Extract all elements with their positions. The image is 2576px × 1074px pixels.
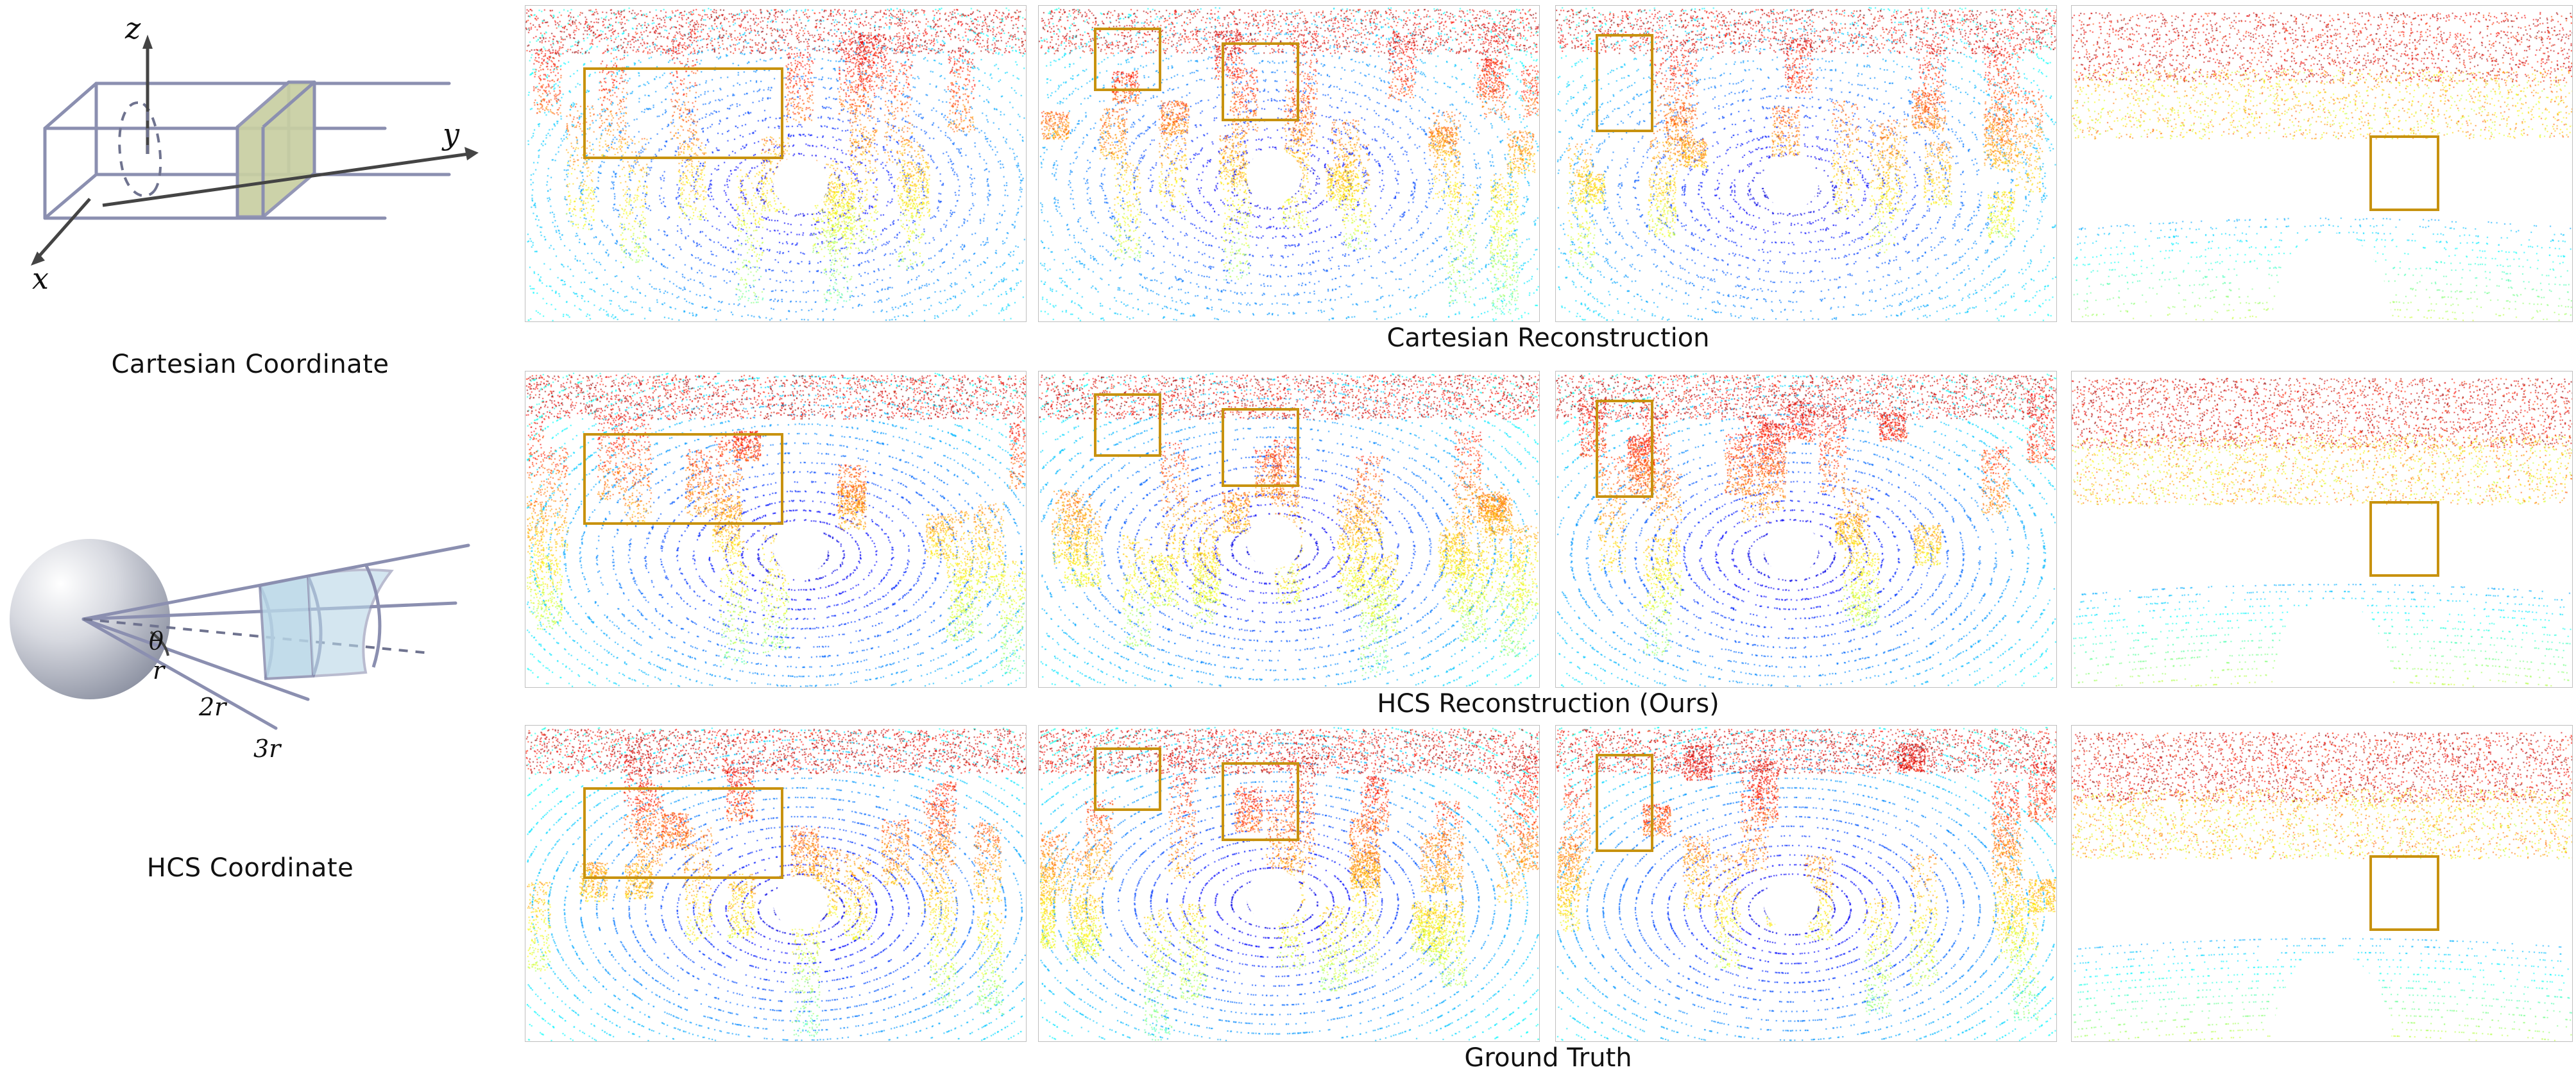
highlight-box [1094, 747, 1161, 810]
pointcloud-canvas [2072, 6, 2572, 321]
panel-r1-c3 [1555, 5, 2057, 322]
pointcloud-canvas [2072, 726, 2572, 1041]
panel-r2-c4 [2071, 371, 2573, 688]
panel-r2-c1 [525, 371, 1027, 688]
highlight-box [2369, 501, 2439, 577]
panel-r3-c2 [1038, 725, 1540, 1042]
panel-r3-c3 [1555, 725, 2057, 1042]
label-theta: θ [149, 627, 164, 655]
hcs-diagram: θ r 2r 3r [6, 507, 494, 853]
highlight-box [1222, 42, 1299, 121]
panel-r1-c4 [2071, 5, 2573, 322]
highlight-box [1222, 408, 1299, 487]
row-hcs-reconstruction [525, 371, 2572, 686]
panel-r1-c1 [525, 5, 1027, 322]
panel-r3-c4 [2071, 725, 2573, 1042]
row-caption-ground-truth: Ground Truth [525, 1043, 2572, 1073]
pointcloud-canvas [525, 726, 1026, 1041]
axis-label-x: x [32, 261, 49, 296]
pointcloud-canvas [525, 371, 1026, 687]
highlight-box [1596, 754, 1653, 852]
axis-label-z: z [124, 11, 141, 46]
highlight-box [1596, 400, 1653, 498]
row-cartesian-reconstruction [525, 5, 2572, 321]
label-r: r [153, 656, 166, 685]
hcs-caption: HCS Coordinate [38, 853, 462, 883]
label-3r: 3r [253, 735, 282, 763]
row-caption-cartesian: Cartesian Reconstruction [525, 323, 2572, 353]
pointcloud-grid: Cartesian Reconstruction HCS Reconstruct… [525, 5, 2572, 1032]
axis-label-y: y [441, 117, 460, 151]
cartesian-caption: Cartesian Coordinate [38, 350, 462, 379]
panel-r3-c1 [525, 725, 1027, 1042]
highlight-box [1094, 28, 1161, 90]
highlight-box [2369, 855, 2439, 931]
highlight-box [583, 433, 783, 525]
panel-r2-c2 [1038, 371, 1540, 688]
highlight-box [1094, 393, 1161, 456]
figure-root: z y x Cartesian Coordinate [0, 0, 2576, 1074]
panel-r1-c2 [1038, 5, 1540, 322]
highlight-box [583, 67, 783, 159]
row-caption-hcs: HCS Reconstruction (Ours) [525, 689, 2572, 719]
row-ground-truth [525, 725, 2572, 1041]
pointcloud-canvas [525, 6, 1026, 321]
highlight-box [2369, 135, 2439, 211]
cartesian-diagram: z y x [26, 6, 488, 308]
highlight-box [1222, 762, 1299, 841]
panel-r2-c3 [1555, 371, 2057, 688]
highlight-box [1596, 34, 1653, 132]
pointcloud-canvas [2072, 371, 2572, 687]
coordinate-diagrams: z y x Cartesian Coordinate [0, 0, 513, 1074]
label-2r: 2r [198, 693, 228, 721]
highlight-box [583, 787, 783, 879]
